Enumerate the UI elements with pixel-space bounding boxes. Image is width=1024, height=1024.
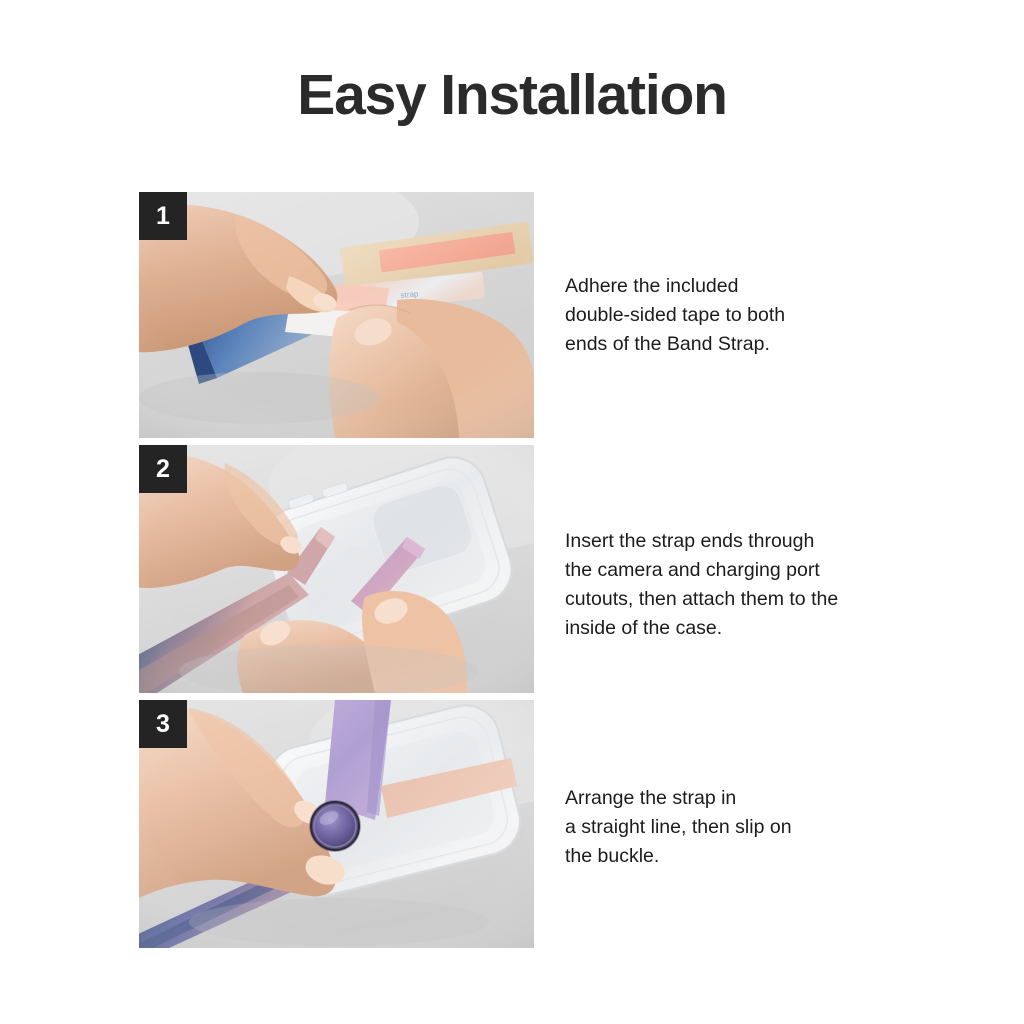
step-1-photo: strap: [139, 192, 534, 438]
step-3-number-badge: 3: [139, 700, 187, 748]
step-2-photo: [139, 445, 534, 693]
step-1-description: Adhere the included double-sided tape to…: [565, 272, 895, 359]
easy-installation-page: Easy Installation: [0, 0, 1024, 1024]
installation-steps: strap: [0, 0, 1024, 1024]
step-3-photo: [139, 700, 534, 948]
step-1-number-badge: 1: [139, 192, 187, 240]
step-3-description: Arrange the strap in a straight line, th…: [565, 784, 895, 871]
step-2-number-badge: 2: [139, 445, 187, 493]
step-2-description: Insert the strap ends through the camera…: [565, 527, 895, 643]
